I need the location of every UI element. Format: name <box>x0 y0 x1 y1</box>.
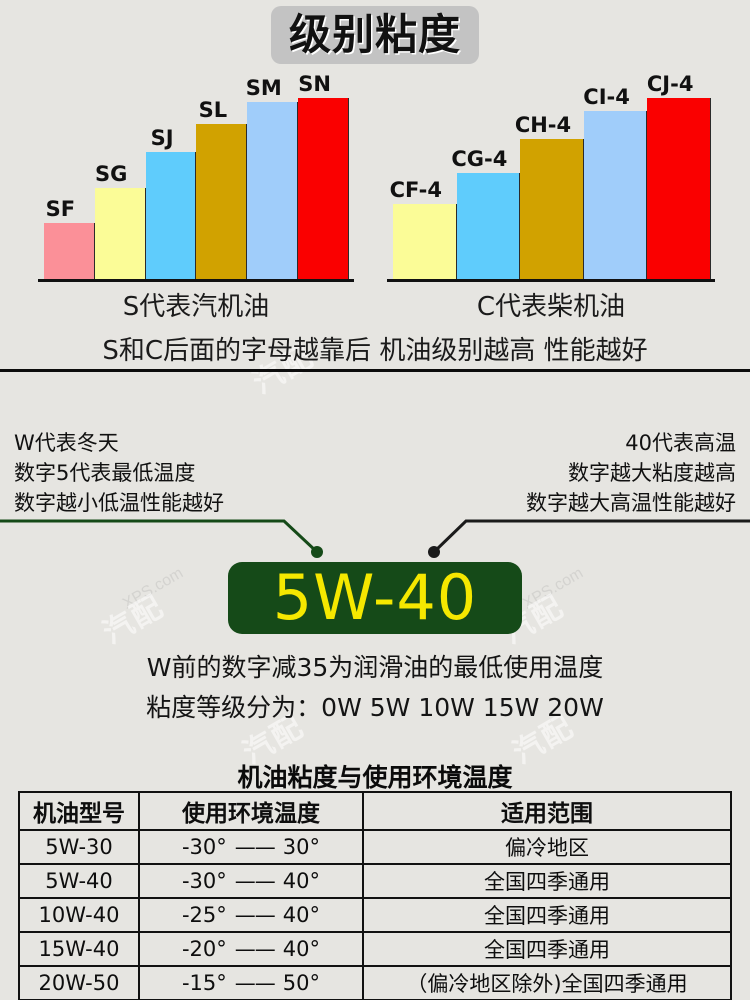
bar-label-sf: SF <box>30 197 91 221</box>
cell-temp-range: -30°——40° <box>139 864 363 898</box>
cell-model: 15W-40 <box>19 932 139 966</box>
annotation-line: 数字越小低温性能越好 <box>14 488 224 518</box>
bar-ci-4 <box>584 111 648 281</box>
cell-applicable-range: 全国四季通用 <box>363 864 731 898</box>
chart-axis-right <box>387 279 715 282</box>
bar-sg <box>95 188 146 281</box>
cell-temp-range: -30°——30° <box>139 830 363 864</box>
temp-low: -25° <box>182 903 227 927</box>
infographic-page: XPS.com 汽配 XPS.com 汽配 XPS.com 汽配 XPS.com… <box>0 0 750 1000</box>
bar-sj <box>146 152 197 281</box>
bar-item: CJ-4 <box>647 85 711 281</box>
grade-value: 5W-40 <box>228 562 522 634</box>
watermark-logo: 汽配 <box>93 582 170 652</box>
table-row: 15W-40-20°——40°全国四季通用 <box>19 932 731 966</box>
bar-label-cj-4: CJ-4 <box>633 72 707 96</box>
table-row: 5W-30-30°——30°偏冷地区 <box>19 830 731 864</box>
bar-sn <box>298 98 349 281</box>
annotation-winter: W代表冬天数字5代表最低温度数字越小低温性能越好 <box>14 428 224 518</box>
cell-applicable-range: （偏冷地区除外)全国四季通用 <box>363 966 731 1000</box>
watermark-text: XPS.com <box>520 565 587 614</box>
temp-low: -30° <box>182 869 227 893</box>
bar-cf-4 <box>393 204 457 281</box>
note-min-temp: W前的数字减35为润滑油的最低使用温度 <box>0 648 750 684</box>
temp-low: -30° <box>182 835 227 859</box>
temp-dash: —— <box>227 869 283 893</box>
cell-temp-range: -25°——40° <box>139 898 363 932</box>
table-row: 5W-40-30°——40°全国四季通用 <box>19 864 731 898</box>
temp-dash: —— <box>227 835 283 859</box>
annotation-line: 40代表高温 <box>526 428 736 458</box>
temp-high: 40° <box>283 937 320 961</box>
bar-ch-4 <box>520 139 584 281</box>
cell-applicable-range: 全国四季通用 <box>363 898 731 932</box>
annotation-line: 数字越大粘度越高 <box>526 458 736 488</box>
temp-high: 30° <box>283 835 320 859</box>
temp-dash: —— <box>227 971 283 995</box>
bar-label-ci-4: CI-4 <box>570 85 644 109</box>
chart-gasoline-grades: SFSGSJSLSMSN <box>44 85 349 281</box>
annotation-line: W代表冬天 <box>14 428 224 458</box>
table-title: 机油粘度与使用环境温度 <box>0 758 750 794</box>
temp-dash: —— <box>227 937 283 961</box>
chart-diesel-grades: CF-4CG-4CH-4CI-4CJ-4 <box>393 85 711 281</box>
bar-item: SG <box>95 85 146 281</box>
bar-cg-4 <box>457 173 521 281</box>
section-divider <box>0 369 750 372</box>
bar-item: CH-4 <box>520 85 584 281</box>
bar-label-ch-4: CH-4 <box>506 113 580 137</box>
bar-sm <box>247 102 298 281</box>
chart-axis-left <box>38 279 354 282</box>
note-grade-list: 粘度等级分为：0W 5W 10W 15W 20W <box>0 688 750 724</box>
cell-applicable-range: 偏冷地区 <box>363 830 731 864</box>
cell-temp-range: -15°——50° <box>139 966 363 1000</box>
bar-item: SM <box>247 85 298 281</box>
table-header-range: 适用范围 <box>363 792 731 830</box>
temp-low: -20° <box>182 937 227 961</box>
bar-label-sj: SJ <box>132 126 193 150</box>
cell-temp-range: -20°——40° <box>139 932 363 966</box>
bar-label-cf-4: CF-4 <box>379 178 453 202</box>
chart-caption-diesel: C代表柴机油 <box>387 286 715 323</box>
temp-high: 40° <box>283 869 320 893</box>
viscosity-table: 机油型号 使用环境温度 适用范围 5W-30-30°——30°偏冷地区5W-40… <box>18 791 732 1000</box>
cell-model: 10W-40 <box>19 898 139 932</box>
annotation-line: 数字5代表最低温度 <box>14 458 224 488</box>
temp-low: -15° <box>182 971 227 995</box>
table-row: 10W-40-25°——40°全国四季通用 <box>19 898 731 932</box>
bar-item: CF-4 <box>393 85 457 281</box>
bar-item: CI-4 <box>584 85 648 281</box>
bar-item: SN <box>298 85 349 281</box>
annotation-hot: 40代表高温数字越大粘度越高数字越大高温性能越好 <box>526 428 736 518</box>
cell-applicable-range: 全国四季通用 <box>363 932 731 966</box>
bar-label-sn: SN <box>284 72 345 96</box>
bar-label-sg: SG <box>81 162 142 186</box>
bar-label-cg-4: CG-4 <box>443 147 517 171</box>
bar-group-gasoline: SFSGSJSLSMSN <box>44 85 349 281</box>
table-row: 20W-50-15°——50°（偏冷地区除外)全国四季通用 <box>19 966 731 1000</box>
charts-summary-text: S和C后面的字母越靠后 机油级别越高 性能越好 <box>0 330 750 367</box>
watermark-text: XPS.com <box>120 565 187 614</box>
table-header-row: 机油型号 使用环境温度 适用范围 <box>19 792 731 830</box>
bar-sf <box>44 223 95 281</box>
bar-label-sl: SL <box>182 98 243 122</box>
annotation-line: 数字越大高温性能越好 <box>526 488 736 518</box>
table-header-temp: 使用环境温度 <box>139 792 363 830</box>
bar-cj-4 <box>647 98 711 281</box>
bar-sl <box>196 124 247 281</box>
bar-item: SL <box>196 85 247 281</box>
temp-high: 50° <box>283 971 320 995</box>
temp-high: 40° <box>283 903 320 927</box>
page-title: 级别粘度 <box>271 6 479 64</box>
table-header-model: 机油型号 <box>19 792 139 830</box>
bar-group-diesel: CF-4CG-4CH-4CI-4CJ-4 <box>393 85 711 281</box>
chart-caption-gasoline: S代表汽机油 <box>38 286 354 323</box>
cell-model: 5W-30 <box>19 830 139 864</box>
cell-model: 5W-40 <box>19 864 139 898</box>
temp-dash: —— <box>227 903 283 927</box>
cell-model: 20W-50 <box>19 966 139 1000</box>
